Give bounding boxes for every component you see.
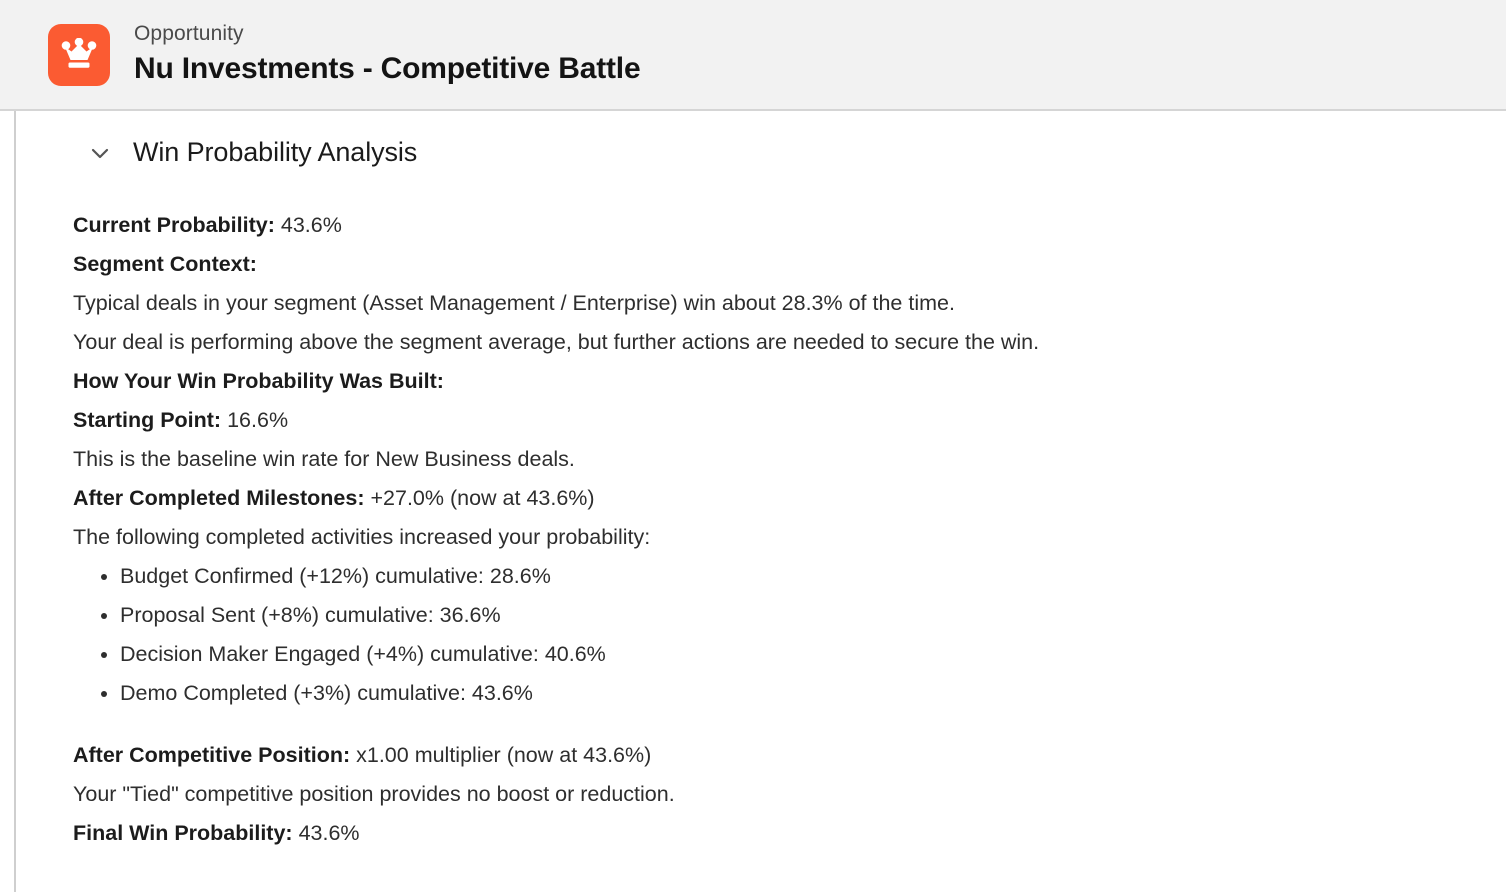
crown-icon — [48, 24, 110, 86]
section-header-win-probability-analysis[interactable]: Win Probability Analysis — [73, 111, 1506, 168]
page-title: Nu Investments - Competitive Battle — [134, 49, 640, 88]
milestones-intro: The following completed activities incre… — [73, 518, 1506, 557]
left-gutter — [0, 111, 16, 892]
list-item: Budget Confirmed (+12%) cumulative: 28.6… — [73, 557, 1506, 596]
list-item: Proposal Sent (+8%) cumulative: 36.6% — [73, 596, 1506, 635]
starting-point-note: This is the baseline win rate for New Bu… — [73, 440, 1506, 479]
record-header: Opportunity Nu Investments - Competitive… — [0, 0, 1506, 111]
starting-point-line: Starting Point: 16.6% — [73, 401, 1506, 440]
how-built-label: How Your Win Probability Was Built: — [73, 369, 444, 393]
competitive-position-note: Your "Tied" competitive position provide… — [73, 775, 1506, 814]
section-spacer — [73, 713, 1506, 736]
milestones-label: After Completed Milestones: — [73, 486, 364, 510]
current-probability-line: Current Probability: 43.6% — [73, 206, 1506, 245]
segment-context-line-1: Typical deals in your segment (Asset Man… — [73, 284, 1506, 323]
final-win-probability-line: Final Win Probability: 43.6% — [73, 814, 1506, 853]
milestone-list: Budget Confirmed (+12%) cumulative: 28.6… — [73, 557, 1506, 713]
segment-context-line-2: Your deal is performing above the segmen… — [73, 323, 1506, 362]
record-object-label: Opportunity — [134, 21, 640, 47]
win-probability-analysis-body: Current Probability: 43.6% Segment Conte… — [73, 206, 1506, 853]
chevron-down-icon[interactable] — [87, 140, 113, 166]
segment-context-label: Segment Context: — [73, 252, 257, 276]
milestones-value: +27.0% (now at 43.6%) — [370, 486, 594, 510]
how-built-heading: How Your Win Probability Was Built: — [73, 362, 1506, 401]
final-win-probability-label: Final Win Probability: — [73, 821, 293, 845]
record-title-block: Opportunity Nu Investments - Competitive… — [134, 21, 640, 88]
content-pane: Win Probability Analysis Current Probabi… — [16, 111, 1506, 892]
competitive-position-line: After Competitive Position: x1.00 multip… — [73, 736, 1506, 775]
starting-point-value: 16.6% — [227, 408, 288, 432]
current-probability-value: 43.6% — [281, 213, 342, 237]
section-title: Win Probability Analysis — [133, 137, 417, 168]
final-win-probability-value: 43.6% — [299, 821, 360, 845]
competitive-position-label: After Competitive Position: — [73, 743, 350, 767]
list-item: Decision Maker Engaged (+4%) cumulative:… — [73, 635, 1506, 674]
milestones-line: After Completed Milestones: +27.0% (now … — [73, 479, 1506, 518]
list-item: Demo Completed (+3%) cumulative: 43.6% — [73, 674, 1506, 713]
competitive-position-value: x1.00 multiplier (now at 43.6%) — [356, 743, 651, 767]
starting-point-label: Starting Point: — [73, 408, 221, 432]
current-probability-label: Current Probability: — [73, 213, 275, 237]
segment-context-heading: Segment Context: — [73, 245, 1506, 284]
page-body: Win Probability Analysis Current Probabi… — [0, 111, 1506, 892]
